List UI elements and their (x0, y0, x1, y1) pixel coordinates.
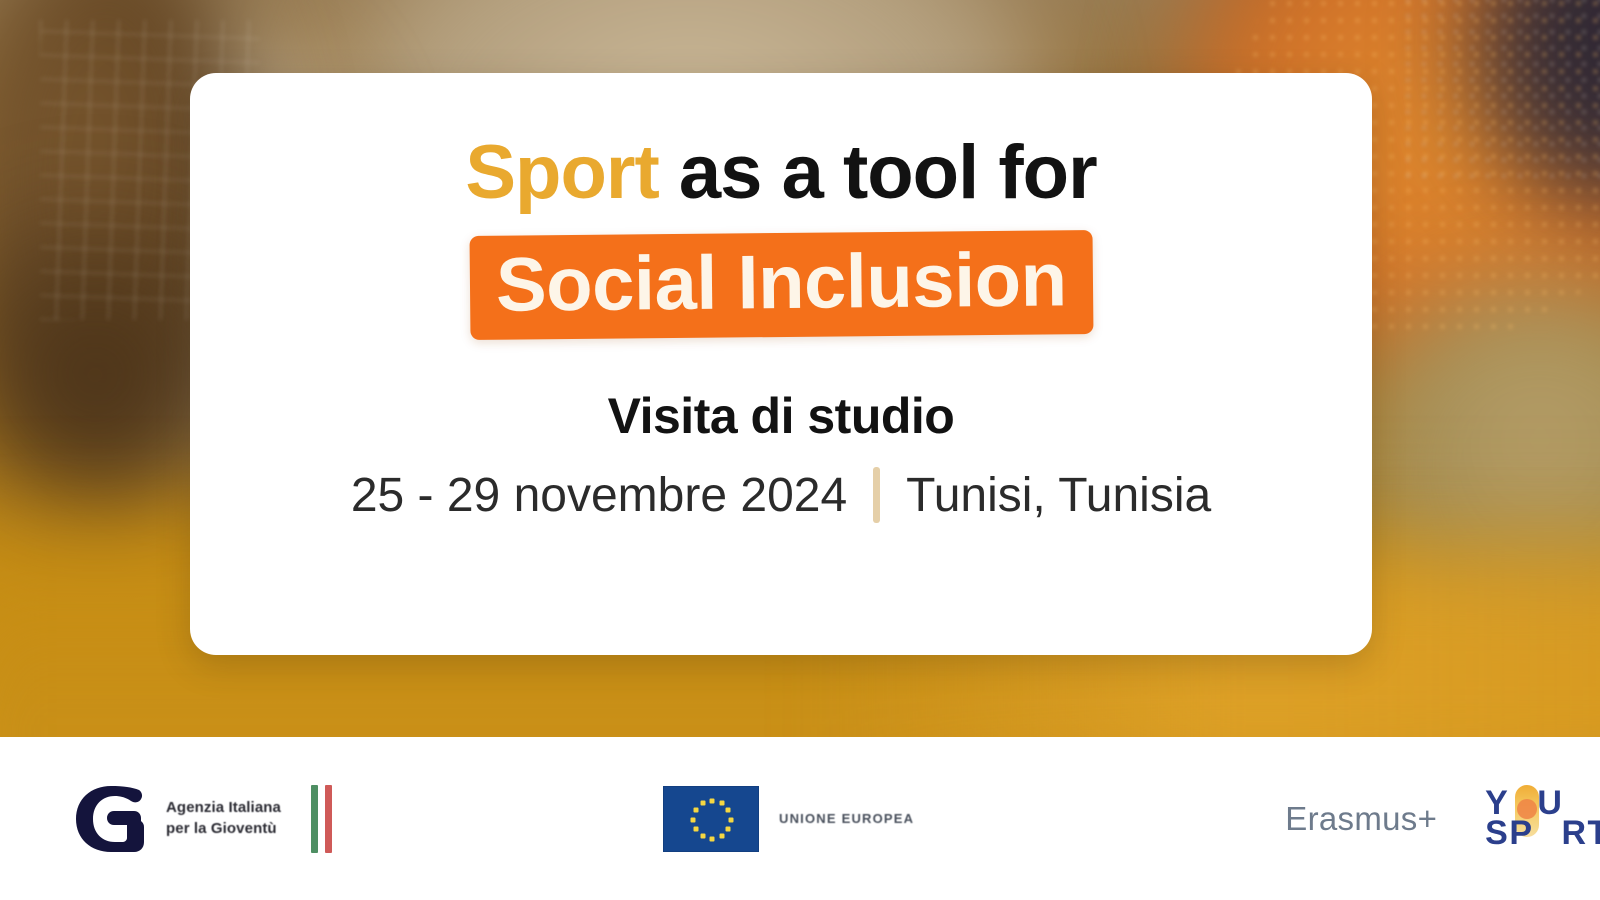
ys-l2-post: RTS (1561, 814, 1600, 852)
agenzia-wordmark: Agenzia Italiana per la Gioventù (166, 798, 281, 839)
logo-unione-europea: UNIONE EUROPEA (663, 786, 914, 852)
footer-inner: Agenzia Italiana per la Gioventù UNIONE … (0, 737, 1600, 900)
event-location: Tunisi, Tunisia (906, 468, 1211, 523)
social-inclusion-pill: Social Inclusion (469, 230, 1093, 340)
social-inclusion-label: Social Inclusion (495, 242, 1066, 323)
ys-l2-hole: O (1534, 814, 1562, 852)
eu-star-icon (726, 808, 731, 813)
agenzia-g-mark-icon (72, 783, 150, 855)
ys-l2-pre: SP (1485, 814, 1533, 852)
eu-star-icon (726, 827, 731, 832)
eu-star-icon (729, 817, 734, 822)
erasmus-plus-wordmark: Erasmus+ (1285, 800, 1437, 838)
you-sports-logo: YOU SPORTS (1485, 789, 1600, 847)
flag-stripe-red (325, 785, 332, 853)
headline: Sport as a tool for (465, 135, 1096, 211)
logo-group-right: Erasmus+ YOU SPORTS (1285, 789, 1600, 847)
event-dates: 25 - 29 novembre 2024 (351, 468, 847, 523)
eu-flag-icon (663, 786, 759, 852)
you-sports-line-2: SPORTS (1485, 819, 1600, 848)
eu-star-icon (691, 817, 696, 822)
eu-star-icon (693, 827, 698, 832)
eu-label: UNIONE EUROPEA (779, 811, 914, 826)
eu-star-icon (710, 798, 715, 803)
agenzia-line-1: Agenzia Italiana (166, 798, 281, 818)
eu-star-icon (710, 836, 715, 841)
headline-pill-wrapper: Social Inclusion (470, 233, 1093, 337)
logo-agenzia-italiana-giovent: Agenzia Italiana per la Gioventù (72, 783, 332, 855)
meta-divider-icon (873, 467, 880, 523)
event-meta: 25 - 29 novembre 2024 Tunisi, Tunisia (351, 467, 1211, 523)
poster-stage: Sport as a tool for Social Inclusion Vis… (0, 0, 1600, 900)
eu-star-icon (719, 833, 724, 838)
event-subtitle: Visita di studio (608, 387, 955, 445)
headline-gold-word: Sport (465, 130, 658, 215)
agenzia-line-2: per la Gioventù (166, 819, 281, 839)
flag-stripe-green (311, 785, 318, 853)
eu-star-icon (693, 808, 698, 813)
italian-flag-stripes-icon (311, 785, 332, 853)
eu-star-icon (700, 801, 705, 806)
eu-star-icon (719, 801, 724, 806)
footer-logo-bar: Agenzia Italiana per la Gioventù UNIONE … (0, 737, 1600, 900)
background-dot-texture-secondary (1400, 0, 1600, 180)
eu-star-icon (700, 833, 705, 838)
headline-rest: as a tool for (659, 130, 1097, 215)
event-card: Sport as a tool for Social Inclusion Vis… (190, 73, 1372, 655)
